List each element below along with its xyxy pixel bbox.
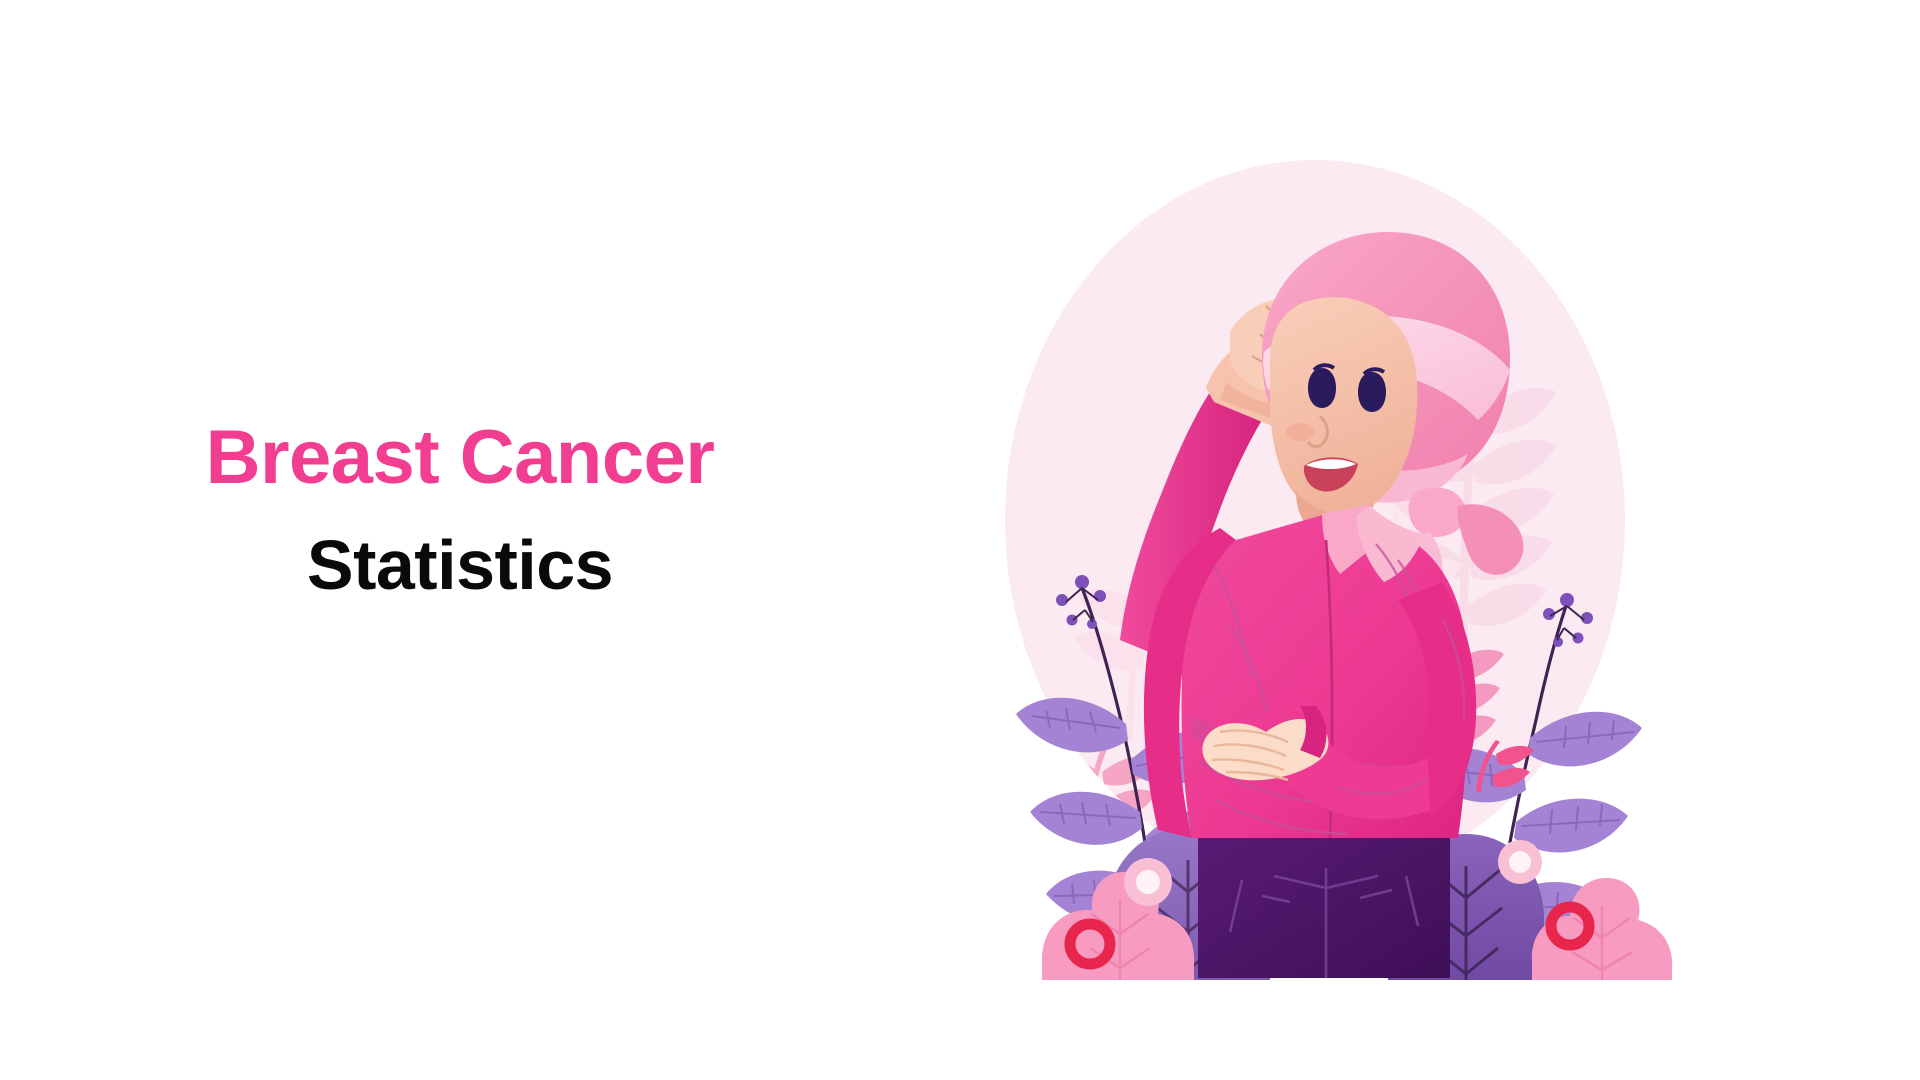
page-title: Breast Cancer Statistics [120,420,800,600]
page-title-primary: Breast Cancer [120,420,800,496]
page-title-secondary: Statistics [120,530,800,600]
breast-cancer-awareness-woman-illustration [930,120,1720,980]
pale-blossom-right [1498,840,1542,884]
woman-trousers [1198,820,1450,978]
pale-blossom-left [1124,858,1172,906]
poster-canvas: Breast Cancer Statistics [0,0,1920,1080]
